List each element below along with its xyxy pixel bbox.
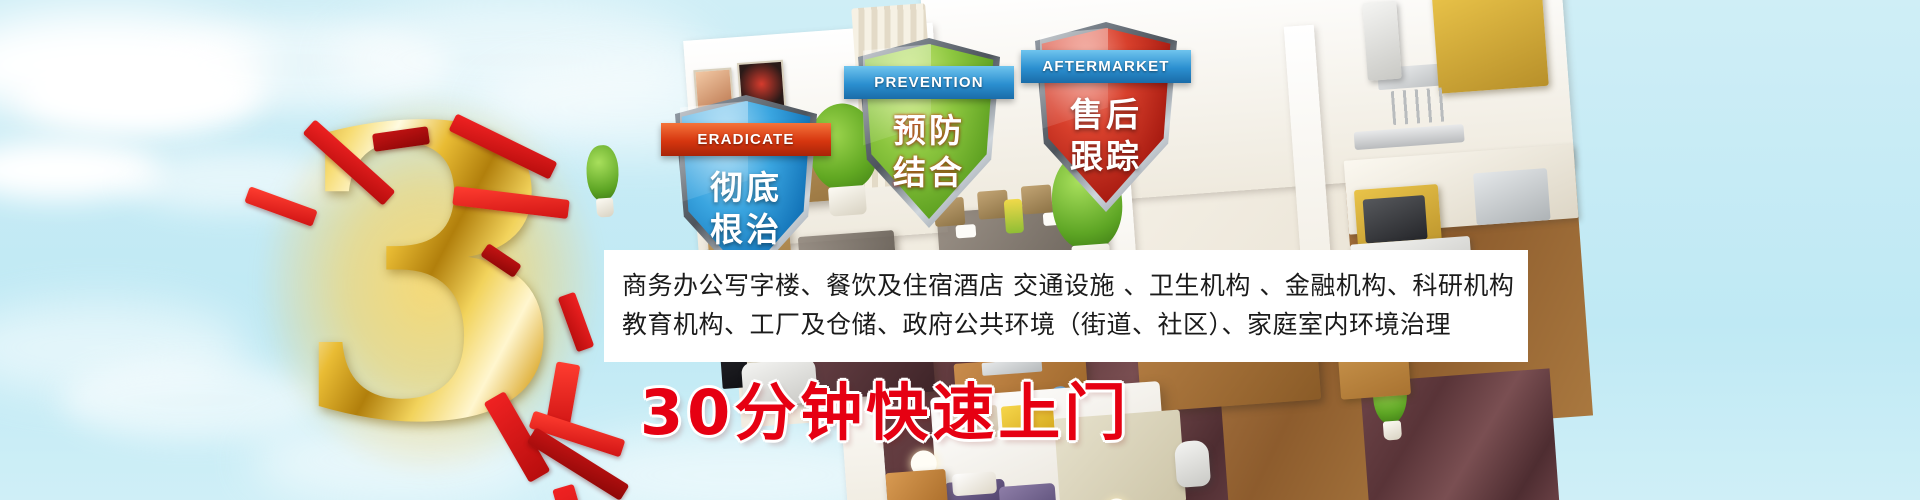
oven	[1363, 195, 1428, 243]
upper-kitchen-cabinet	[1432, 0, 1549, 94]
headline-30-minute-service: 30分钟快速上门	[640, 362, 1130, 452]
shield-chinese-line-2: 跟踪	[1032, 130, 1180, 178]
shield-english-label: ERADICATE	[697, 131, 794, 148]
nightstand	[885, 469, 948, 500]
golden-number-three: 3	[265, 95, 595, 475]
shield-chinese-line-1: 彻底	[672, 161, 820, 209]
service-scope-line-1: 商务办公写字楼、餐饮及住宿酒店 交通设施 、卫生机构 、金融机构、科研机构	[622, 272, 1510, 301]
shield-english-banner: AFTERMARKET	[1021, 50, 1191, 83]
table-centerpiece	[1004, 199, 1024, 234]
shield-english-label: AFTERMARKET	[1042, 58, 1169, 75]
promo-banner: 3 ERADICATE 彻底 根治 PREVENTION 预防	[0, 0, 1920, 500]
bed-pillow	[999, 483, 1057, 500]
shield-chinese-line-2: 根治	[672, 203, 820, 251]
toilet	[1174, 440, 1211, 488]
bed-pillow	[952, 471, 997, 496]
shield-english-banner: ERADICATE	[661, 123, 831, 156]
shield-english-banner: PREVENTION	[844, 66, 1014, 99]
service-scope-line-2: 教育机构、工厂及仓储、政府公共环境（街道、社区）、家庭室内环境治理	[622, 311, 1510, 340]
shield-prevention[interactable]: PREVENTION 预防 结合	[855, 38, 1003, 228]
shield-aftermarket[interactable]: AFTERMARKET 售后 跟踪	[1032, 22, 1180, 212]
service-scope-card: 商务办公写字楼、餐饮及住宿酒店 交通设施 、卫生机构 、金融机构、科研机构 教育…	[604, 250, 1528, 362]
hanging-utensils	[1391, 87, 1451, 125]
water-heater	[1362, 1, 1402, 81]
kitchen-sink	[1473, 168, 1551, 225]
shield-chinese-line-1: 售后	[1032, 88, 1180, 136]
shield-chinese-line-1: 预防	[855, 104, 1003, 152]
shield-chinese-line-2: 结合	[855, 146, 1003, 194]
shield-english-label: PREVENTION	[874, 74, 984, 91]
